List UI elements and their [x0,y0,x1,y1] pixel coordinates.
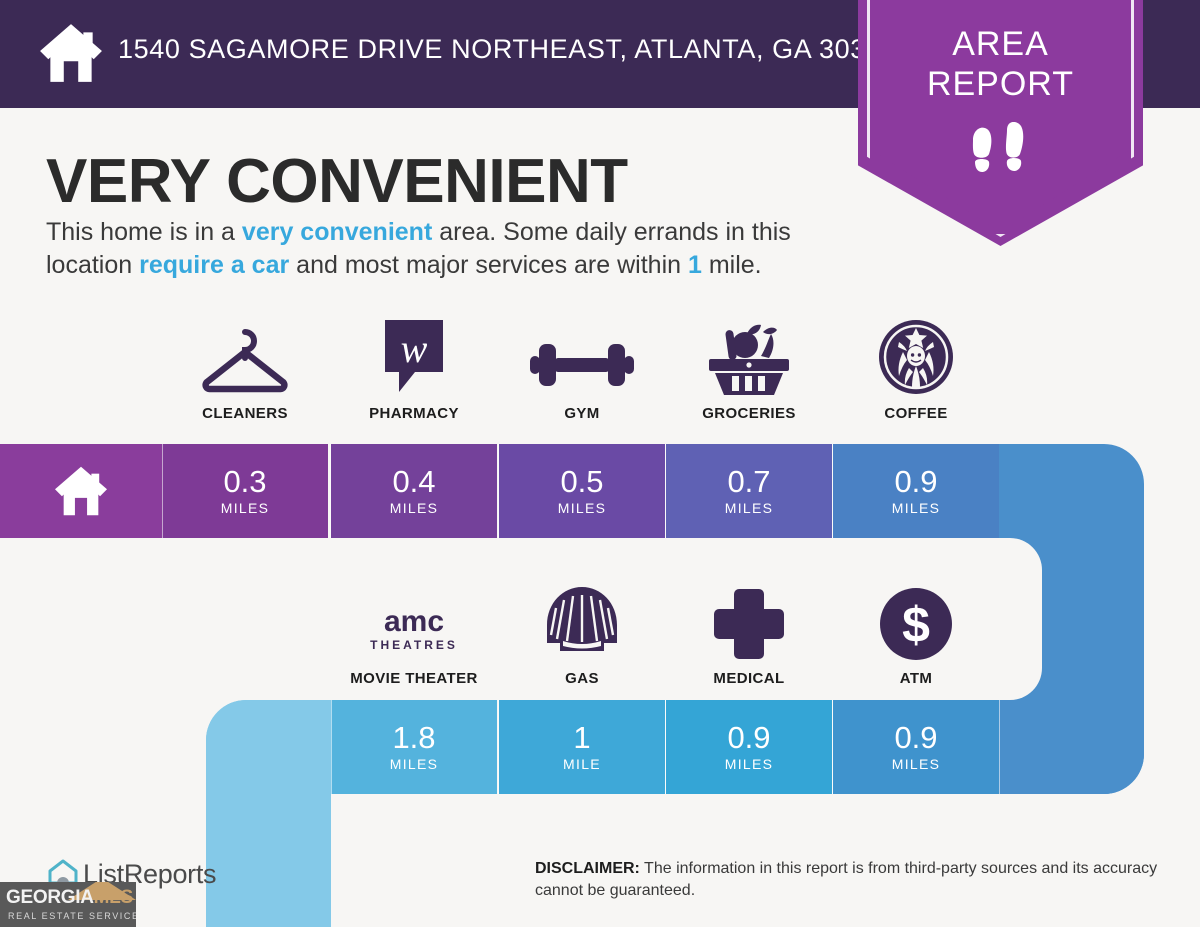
summary-paragraph: This home is in a very convenient area. … [46,216,866,282]
distance-cell-gas: 1 MILE [499,700,665,794]
amenity-label: GYM [499,405,665,422]
distance-cell-medical: 0.9 MILES [666,700,832,794]
shell-pecten-icon [499,583,665,661]
strip-divider [832,700,833,794]
distance-unit: MILES [725,756,774,772]
grocery-basket-icon [666,318,832,396]
banner-title-line2: REPORT [858,64,1143,104]
home-icon [38,22,104,84]
distance-unit: MILE [563,756,601,772]
distance-unit: MILES [892,756,941,772]
paragraph-part-4: mile. [702,251,762,279]
banner-title-line1: AREA [858,24,1143,64]
distance-unit: MILES [725,500,774,516]
strip-home-marker [0,444,162,538]
amenity-pharmacy: w PHARMACY [331,318,497,422]
distance-unit: MILES [390,756,439,772]
dumbbell-icon [499,318,665,396]
distance-value: 1 [573,722,590,753]
starbucks-siren-icon [833,318,999,396]
strip-divider [498,444,499,538]
dollar-circle-icon: $ [833,583,999,661]
strip-divider [832,444,833,538]
path-connector-left-tail [206,700,331,927]
amenity-gym: GYM [499,318,665,422]
svg-text:THEATRES: THEATRES [370,638,458,652]
strip-divider [162,444,163,538]
strip-divider [498,700,499,794]
amenity-label: GAS [499,670,665,687]
strip-divider [665,700,666,794]
svg-text:w: w [401,326,428,371]
distance-unit: MILES [390,500,439,516]
distance-value: 1.8 [392,722,435,753]
path-connector-left-notch [331,794,391,834]
amenity-label: MEDICAL [666,670,832,687]
distance-unit: MILES [892,500,941,516]
amenity-coffee: COFFEE [833,318,999,422]
amenity-label: GROCERIES [666,405,832,422]
amenity-label: COFFEE [833,405,999,422]
paragraph-part-1: This home is in a [46,218,242,246]
amenity-atm: $ ATM [833,583,999,687]
amenity-label: MOVIE THEATER [331,670,497,687]
paragraph-highlight-car: require a car [139,251,289,279]
distance-unit: MILES [221,500,270,516]
area-report-banner: AREA REPORT [858,0,1143,246]
amenity-movie-theater: amc THEATRES MOVIE THEATER [331,583,497,687]
distance-cell-cleaners: 0.3 MILES [162,444,328,538]
distance-cell-gym: 0.5 MILES [499,444,665,538]
strip-divider [665,444,666,538]
paragraph-highlight-distance: 1 [688,251,702,279]
disclaimer-label: DISCLAIMER: [535,860,640,877]
distance-cell-movie-theater: 1.8 MILES [331,700,497,794]
amenity-label: PHARMACY [331,405,497,422]
distance-cell-atm: 0.9 MILES [833,700,999,794]
distance-cell-pharmacy: 0.4 MILES [331,444,497,538]
distance-strip-row-2: 1.8 MILES 1 MILE 0.9 MILES 0.9 MILES [206,700,1144,794]
page-title: VERY CONVENIENT [46,146,628,217]
paragraph-highlight-convenient: very convenient [242,218,432,246]
distance-value: 0.4 [392,466,435,497]
strip-tail-end [1000,700,1144,794]
distance-value: 0.5 [560,466,603,497]
svg-text:amc: amc [384,605,444,638]
hanger-icon [162,318,328,396]
amc-theatres-icon: amc THEATRES [331,583,497,661]
distance-value: 0.9 [894,466,937,497]
distance-value: 0.9 [894,722,937,753]
mls-tagline: REAL ESTATE SERVICES [8,911,136,921]
amenity-label: CLEANERS [162,405,328,422]
distance-cell-coffee: 0.9 MILES [833,444,999,538]
medical-cross-icon [666,583,832,661]
distance-unit: MILES [558,500,607,516]
mls-name-mls: MLS [94,887,133,908]
walgreens-w-icon: w [331,318,497,396]
property-address: 1540 SAGAMORE DRIVE NORTHEAST, ATLANTA, … [118,34,897,65]
banner-title: AREA REPORT [858,24,1143,104]
amenity-groceries: GROCERIES [666,318,832,422]
strip-divider [999,700,1000,794]
mls-name-georgia: GEORGIA [6,887,94,908]
amenity-cleaners: CLEANERS [162,318,328,422]
strip-divider [331,700,332,794]
footprints-icon [963,122,1039,189]
amenity-medical: MEDICAL [666,583,832,687]
amenity-label: ATM [833,670,999,687]
mls-name: GEORGIAMLS [6,887,133,909]
distance-value: 0.9 [727,722,770,753]
georgia-mls-logo: GEORGIAMLS REAL ESTATE SERVICES [0,882,136,927]
paragraph-part-3: and most major services are within [289,251,688,279]
distance-value: 0.3 [223,466,266,497]
disclaimer: DISCLAIMER: The information in this repo… [535,858,1160,902]
home-icon [52,465,110,517]
amenity-gas: GAS [499,583,665,687]
distance-value: 0.7 [727,466,770,497]
distance-cell-groceries: 0.7 MILES [666,444,832,538]
svg-text:$: $ [902,597,930,653]
strip-divider [330,444,331,538]
